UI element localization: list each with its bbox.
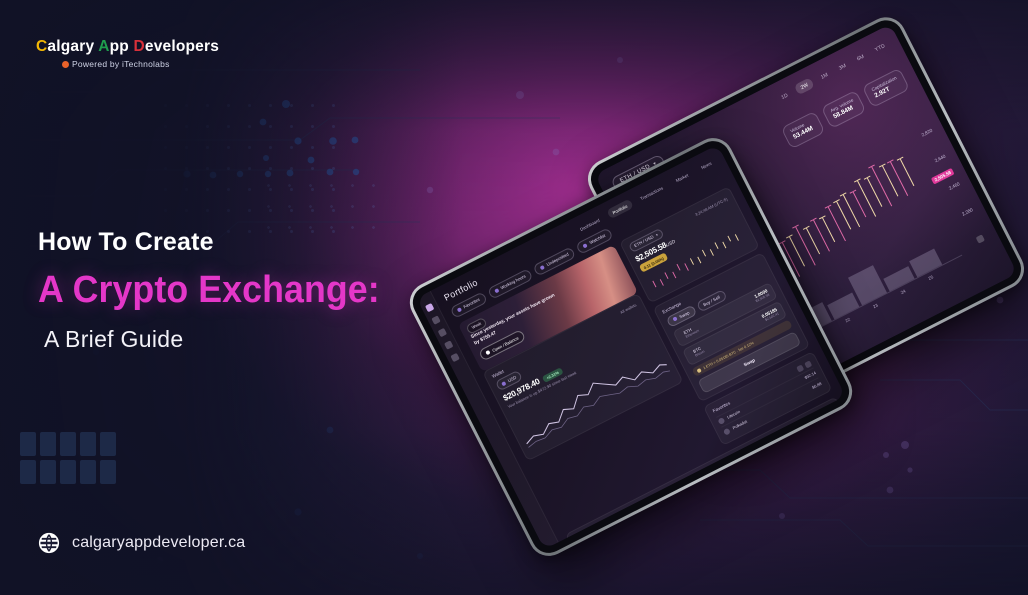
y-tick-3: 2,280	[961, 207, 974, 217]
filter-favorites-label: Favorites	[463, 297, 481, 309]
asset-price: $48,310.22	[709, 452, 797, 500]
range-tab-1m[interactable]: 1M	[816, 69, 832, 84]
asset-name: Ethereum ETH	[600, 510, 714, 549]
sidebar-item-portfolio[interactable]	[431, 315, 440, 324]
asset-name: Solana SOL	[607, 523, 721, 550]
x-tick-5: 24	[900, 288, 907, 295]
arrow-right-icon	[485, 350, 490, 355]
col-change: 24h change	[794, 431, 814, 444]
filter-watchlist-label: Watchlist	[589, 233, 607, 245]
assets-card-title: Assets	[575, 533, 590, 544]
asset-sparkline	[826, 438, 845, 457]
filter-working-hours-label: Working hours	[500, 274, 527, 291]
sidebar-item-exchange[interactable]	[444, 340, 453, 349]
col-trend: Trend	[815, 417, 840, 432]
promo-button-label: Open / Balance	[491, 335, 519, 353]
device-mockups: ETH / USD ▾ 3:24:48 AM (UTC-5) 1D 2W 1M …	[0, 0, 1028, 595]
quote-price-unit: USD	[665, 239, 676, 248]
wallet-card-meta: All wallets	[619, 302, 638, 315]
eye-icon	[583, 243, 588, 248]
asset-change: +0.06%	[806, 453, 825, 467]
sidebar-item-wallet[interactable]	[438, 328, 447, 337]
y-tick-0: 2,820	[921, 128, 934, 138]
coin-icon	[723, 428, 731, 436]
chevron-down-icon: ▾	[655, 233, 658, 237]
asset-price: $142.78	[722, 477, 810, 525]
tab-news[interactable]: News	[695, 156, 718, 174]
clock-icon	[494, 288, 499, 293]
y-tick-highlight: 2,505.58	[931, 167, 955, 184]
asset-change: +3.12%	[812, 466, 831, 480]
wallet-currency-label: USD	[507, 375, 517, 384]
asset-change: +1.84%	[799, 440, 818, 454]
y-tick-2: 2,460	[948, 182, 961, 192]
wallet-icon	[540, 265, 545, 270]
coin-icon	[717, 417, 725, 425]
assets-tab-my-label: My assets	[602, 517, 622, 530]
asset-price: $2,505.58	[716, 464, 804, 512]
x-tick-6: 25	[927, 274, 934, 281]
asset-change: -1.07%	[819, 479, 838, 493]
assets-tab-all[interactable]: All assets	[626, 497, 656, 519]
currency-icon	[501, 381, 506, 386]
sidebar-item-dashboard[interactable]	[425, 303, 434, 312]
assets-tab-all-label: All assets	[631, 502, 650, 515]
range-tab-6m[interactable]: 6M	[852, 50, 868, 65]
info-icon	[696, 368, 701, 373]
asset-sparkline	[820, 426, 846, 445]
filter-undeposited-label: Undeposited	[546, 252, 570, 267]
range-tab-1d[interactable]: 1D	[777, 89, 793, 104]
asset-price: $0.5214	[729, 490, 817, 538]
asset-sparkline	[833, 451, 846, 470]
sidebar-item-settings[interactable]	[450, 353, 459, 362]
favorite-value: $6.88	[811, 381, 822, 390]
range-tab-2w[interactable]: 2W	[794, 77, 815, 95]
asset-sparkline	[839, 464, 846, 483]
exchange-tab-swap-label: Swap	[678, 310, 690, 319]
x-tick-4: 23	[872, 303, 879, 310]
star-icon	[457, 307, 462, 312]
y-tick-1: 2,640	[934, 153, 947, 163]
exchange-tab-buysell-label: Buy / Sell	[702, 294, 720, 307]
x-tick-3: 22	[844, 317, 851, 324]
range-tab-3m[interactable]: 3M	[834, 59, 850, 74]
assets-icon	[596, 528, 601, 533]
asset-name: Cardano ADA	[613, 535, 727, 549]
swap-icon	[672, 317, 677, 322]
range-tab-ytd[interactable]: YTD	[870, 40, 889, 56]
